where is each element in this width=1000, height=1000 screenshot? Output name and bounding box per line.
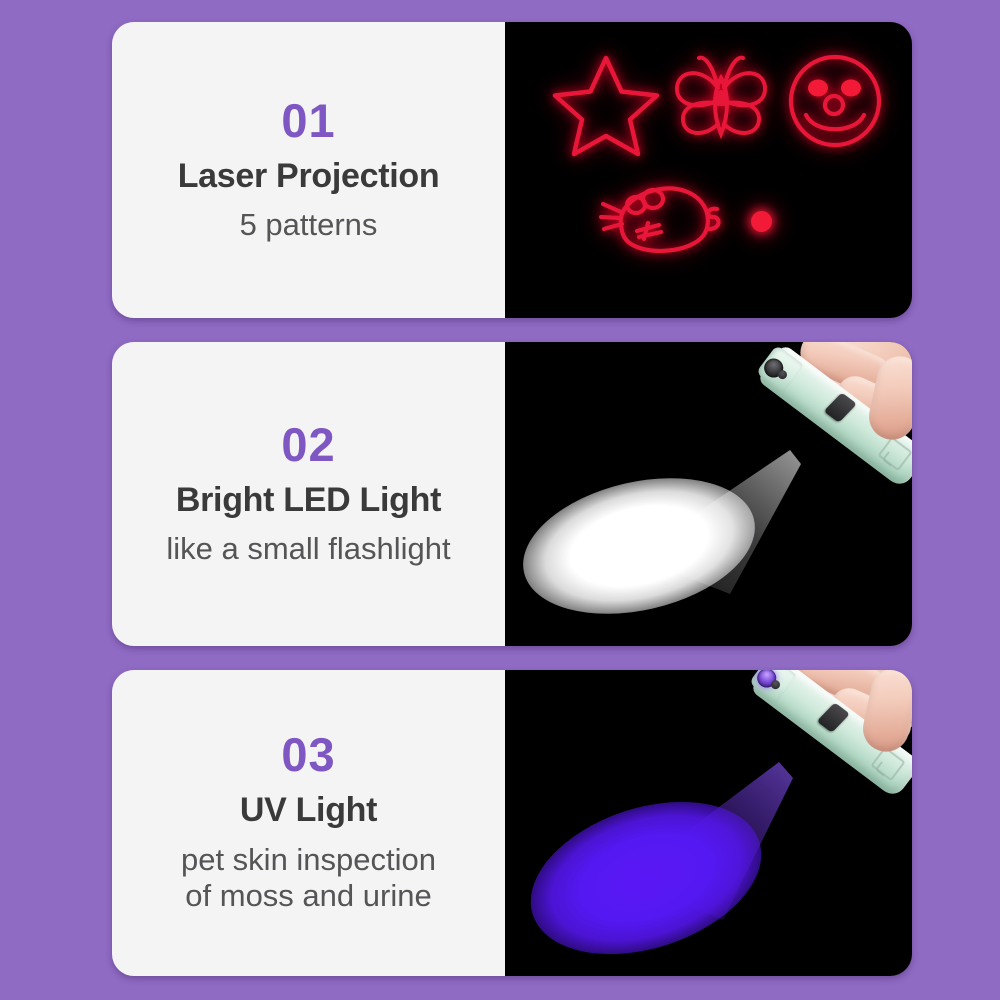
feature-subtitle-3-line2: of moss and urine: [181, 878, 436, 915]
feature-number-2: 02: [281, 421, 335, 468]
feature-subtitle-3: pet skin inspection of moss and urine: [181, 842, 436, 915]
feature-title-3: UV Light: [240, 792, 377, 829]
butterfly-pattern-icon: [668, 48, 774, 154]
feature-number-3: 03: [281, 731, 335, 778]
feature-card-laser-projection: 01 Laser Projection 5 patterns: [112, 22, 912, 318]
feature-text-panel-1: 01 Laser Projection 5 patterns: [112, 22, 505, 318]
smiley-face-pattern-icon: [782, 49, 888, 153]
star-pattern-icon: [551, 50, 661, 158]
feature-title-2: Bright LED Light: [176, 482, 441, 519]
feature-number-1: 01: [281, 97, 335, 144]
led-beam-photo: [505, 342, 912, 646]
feature-text-panel-2: 02 Bright LED Light like a small flashli…: [112, 342, 505, 646]
laser-pattern-display: [505, 22, 912, 318]
feature-subtitle-2: like a small flashlight: [166, 531, 450, 568]
uv-beam-photo: [505, 670, 912, 976]
product-feature-infographic: 01 Laser Projection 5 patterns: [0, 0, 1000, 1000]
mouse-pattern-icon: [591, 179, 743, 263]
feature-subtitle-2-line1: like a small flashlight: [166, 531, 450, 566]
feature-text-panel-3: 03 UV Light pet skin inspection of moss …: [112, 670, 505, 976]
feature-subtitle-3-line1: pet skin inspection: [181, 842, 436, 877]
feature-card-uv-light: 03 UV Light pet skin inspection of moss …: [112, 670, 912, 976]
feature-title-1: Laser Projection: [178, 158, 440, 195]
feature-subtitle-1: 5 patterns: [240, 207, 378, 244]
feature-card-led-light: 02 Bright LED Light like a small flashli…: [112, 342, 912, 646]
dot-pattern-icon: [751, 211, 772, 232]
feature-subtitle-1-line1: 5 patterns: [240, 207, 378, 242]
laser-pattern-stage: [505, 22, 912, 318]
